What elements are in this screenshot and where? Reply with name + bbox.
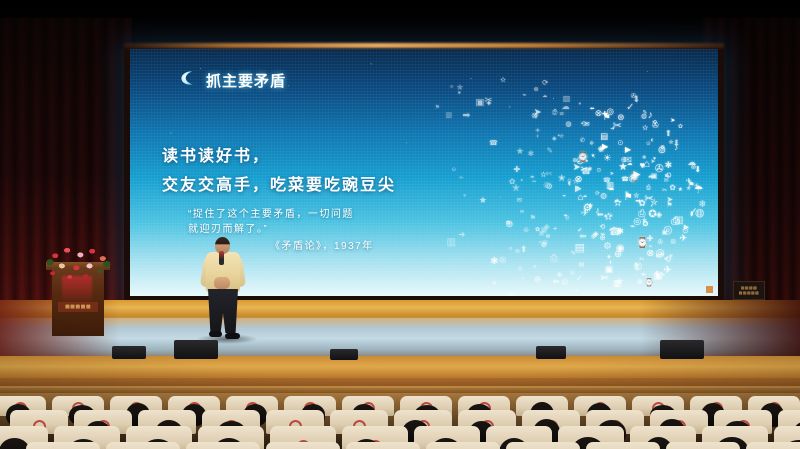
cloud-icon: ✂	[484, 96, 492, 105]
audience-seat	[746, 442, 800, 449]
cloud-icon: ⟳	[542, 79, 548, 86]
cloud-icon: ⊚	[534, 87, 539, 93]
cloud-icon: ✄	[601, 274, 609, 283]
crescent-moon-icon	[178, 69, 198, 92]
cloud-icon: ♪	[595, 206, 599, 215]
cloud-icon: ◈	[656, 211, 662, 219]
audience-seat	[586, 442, 660, 449]
cloud-icon: ⌁	[522, 92, 526, 99]
cloud-icon: ▥	[445, 111, 452, 118]
cloud-icon: ✦	[534, 127, 541, 135]
audience-seat	[666, 442, 740, 449]
cloud-icon: ⟲	[664, 172, 671, 180]
cloud-icon: ▣	[538, 231, 544, 237]
cloud-icon: ▣	[662, 231, 667, 237]
cloud-icon: ▶	[684, 225, 689, 232]
cloud-icon: ✮	[633, 192, 639, 200]
cloud-icon: ⟲	[508, 247, 512, 252]
cloud-icon: ⊕	[515, 249, 521, 256]
cloud-icon: ✭	[686, 186, 691, 192]
cloud-icon: ⎙	[671, 217, 679, 227]
cloud-icon: ✉	[516, 198, 522, 205]
cloud-icon: ◈	[598, 145, 604, 153]
stage-monitor-2	[174, 340, 218, 359]
cloud-icon: ▤	[546, 234, 550, 238]
cloud-icon: ✫	[540, 171, 546, 179]
cloud-icon: ✫	[642, 124, 648, 131]
cloud-icon: ✆	[543, 182, 550, 190]
wall-lamp	[706, 286, 713, 293]
cloud-icon: ✇	[524, 228, 529, 234]
slide-title-text: 抓主要矛盾	[206, 70, 286, 91]
cloud-icon: ☺	[595, 168, 602, 175]
cloud-icon: ➤	[610, 172, 614, 177]
wall-placard: ▩▩▩▩ ▩▩▩▩▩	[733, 281, 765, 300]
cloud-icon: ✱	[665, 161, 673, 170]
cloud-icon: ✓	[626, 103, 634, 113]
cloud-icon: ⊕	[534, 275, 541, 284]
cloud-icon: ✉	[579, 263, 585, 270]
audience-seat	[266, 442, 340, 449]
audience-seat	[506, 442, 580, 449]
cloud-icon: ✎	[547, 147, 553, 155]
cloud-icon: ✎	[643, 111, 648, 117]
cloud-icon: ❄	[458, 91, 461, 95]
slide-line-1: 读书读好书，	[162, 142, 270, 166]
cloud-icon: ⚙	[561, 278, 569, 287]
cloud-icon: ⬅	[553, 278, 560, 286]
cloud-icon: ✇	[652, 122, 659, 130]
cloud-icon: ⎙	[646, 186, 650, 192]
cloud-icon: ⌂	[644, 159, 650, 170]
cloud-icon: ☀	[668, 255, 673, 261]
cloud-icon: ◍	[695, 208, 704, 219]
cloud-icon: ⬇	[694, 166, 701, 174]
cloud-icon: ✎	[521, 277, 525, 281]
cloud-icon: ♥	[579, 102, 582, 106]
cloud-icon: ⎙	[638, 209, 645, 218]
cloud-icon: ★	[479, 196, 487, 205]
cloud-icon: ✇	[658, 240, 664, 247]
cloud-icon: ⌂	[609, 212, 613, 219]
cloud-icon: ◒	[562, 193, 566, 200]
cloud-icon: ⌚	[577, 153, 589, 163]
cloud-icon: ☎	[581, 168, 591, 176]
cloud-icon: ⬅	[579, 232, 586, 241]
cloud-icon: ▥	[446, 238, 455, 248]
cloud-icon: ✿	[669, 184, 676, 192]
audience-seat	[26, 442, 100, 449]
cloud-icon: ☁	[542, 95, 547, 100]
cloud-icon: ➡	[635, 199, 641, 206]
cloud-icon: ✱	[491, 257, 499, 267]
cloud-icon: ✫	[500, 78, 506, 85]
cloud-icon: ✂	[639, 257, 644, 263]
cloud-icon: ⚙	[603, 242, 611, 251]
cloud-icon: ◍	[565, 216, 570, 221]
cloud-icon: ◍	[600, 192, 607, 200]
cloud-icon: ❄	[591, 234, 597, 241]
cloud-icon: ⎙	[552, 110, 557, 117]
cloud-icon: ✈	[680, 234, 688, 243]
cloud-icon: ⌁	[649, 244, 653, 250]
cloud-icon: ☀	[693, 182, 700, 189]
cloud-icon: ★	[516, 147, 524, 156]
cloud-icon: ☂	[553, 228, 558, 233]
cloud-icon: ▣	[475, 98, 484, 107]
cloud-icon: ⟳	[533, 265, 536, 269]
cloud-icon: ✂	[508, 222, 513, 227]
cloud-icon: ✮	[572, 177, 580, 186]
cloud-icon: ⌚	[644, 279, 654, 287]
cloud-icon: ✆	[580, 139, 585, 145]
cloud-icon: ☺	[451, 168, 457, 174]
cloud-icon: ✂	[644, 194, 653, 205]
cloud-icon: ⌁	[459, 173, 464, 181]
cloud-icon: ⊗	[595, 109, 603, 118]
audience-seat	[346, 442, 420, 449]
cloud-icon: ✉	[520, 210, 524, 215]
cloud-icon: ✱	[617, 227, 624, 236]
audience-area	[0, 386, 800, 449]
cloud-icon: ⊚	[606, 108, 614, 118]
cloud-icon: ☎	[559, 112, 564, 116]
cloud-icon: ◒	[520, 178, 523, 182]
cloud-icon: ◍	[565, 121, 571, 128]
cloud-icon: ⚑	[666, 203, 672, 210]
cloud-icon: ♪	[508, 105, 510, 110]
cloud-icon: ✭	[558, 173, 566, 182]
cloud-icon: ▥	[613, 280, 621, 288]
cloud-icon: ☀	[603, 154, 611, 163]
presenter-right-shoe	[225, 333, 240, 339]
cloud-icon: ⚑	[530, 215, 536, 222]
stage-monitor-3	[330, 349, 358, 360]
cloud-icon: ◒	[539, 240, 542, 245]
lectern-plaque: ▩▩▩▩▩	[58, 302, 98, 312]
cloud-icon: ➤	[651, 160, 656, 166]
cloud-icon: ★	[591, 154, 596, 159]
cloud-icon: ❄	[589, 142, 594, 148]
cloud-icon: ✮	[517, 265, 523, 273]
cloud-icon: ⊙	[617, 139, 623, 146]
cloud-icon: ◓	[583, 193, 588, 201]
cloud-icon: ◐	[650, 137, 654, 144]
cloud-icon: ⊗	[637, 278, 643, 285]
cloud-icon: ◐	[609, 260, 613, 266]
cloud-icon: ⟲	[580, 121, 586, 128]
slide-quote: “捉住了这个主要矛盾，一切问题 就迎刃而解了。”	[188, 207, 354, 237]
cloud-icon: ✭	[512, 184, 520, 194]
cloud-icon: ▤	[671, 240, 676, 245]
cloud-icon: ⬇	[655, 272, 660, 278]
presenter	[200, 237, 246, 340]
presenter-left-shoe	[209, 331, 222, 337]
row-rail	[0, 388, 800, 393]
wall-placard-line-2: ▩▩▩▩▩	[739, 291, 759, 295]
stage-monitor-4	[536, 346, 566, 359]
slide-quote-attribution: 《矛盾论》，1937年	[270, 237, 374, 252]
cloud-icon: ➜	[458, 231, 465, 239]
cloud-icon: ★	[678, 188, 683, 194]
cloud-icon: ☎	[489, 140, 498, 147]
audience-seat	[426, 442, 500, 449]
cloud-icon: ▤	[600, 132, 608, 140]
presenter-trousers	[208, 289, 238, 333]
cloud-icon: ♥	[463, 194, 466, 199]
cloud-icon: ➜	[575, 290, 579, 295]
cloud-icon: ◓	[648, 172, 654, 181]
slide-quote-line-1: “捉住了这个主要矛盾，一切问题	[188, 207, 354, 222]
cloud-icon: ✪	[567, 179, 571, 183]
slide-header: 抓主要矛盾	[178, 69, 286, 92]
cloud-icon: ◓	[530, 173, 535, 181]
cloud-icon: ⚑	[435, 106, 440, 112]
cloud-icon: ♪	[674, 144, 678, 151]
cloud-icon: ☎	[603, 178, 611, 184]
presenter-hands	[214, 277, 230, 289]
cloud-icon: ✬	[660, 253, 665, 259]
cloud-icon: ✦	[557, 134, 561, 139]
cloud-icon: ⊗	[499, 256, 507, 266]
cloud-icon: ⊚	[450, 85, 454, 90]
cloud-icon: ✇	[631, 94, 637, 101]
cloud-icon: ♥	[534, 112, 539, 121]
audience-seat	[186, 442, 260, 449]
cloud-icon: ✂	[662, 188, 667, 194]
cloud-icon: ▶	[625, 146, 631, 154]
cloud-icon: ▶	[633, 169, 640, 178]
cloud-icon: ◎	[507, 291, 516, 296]
slide-quote-line-2: 就迎刃而解了。”	[188, 222, 354, 237]
cloud-icon: ◉	[557, 273, 562, 279]
audience-seat	[106, 442, 180, 449]
cloud-icon: ✱	[528, 150, 534, 158]
cloud-icon: ✇	[655, 164, 664, 175]
cloud-icon: ⊗	[569, 269, 575, 276]
microphone-icon	[219, 251, 224, 265]
auditorium-photo: 抓主要矛盾 读书读好书， 交友交高手，吃菜要吃豌豆尖 “捉住了这个主要矛盾，一切…	[0, 0, 800, 449]
cloud-icon: ✿	[678, 125, 683, 131]
cloud-icon: ➤	[670, 118, 675, 124]
stage-monitor-5	[660, 340, 704, 359]
cloud-icon: ⟳	[595, 192, 600, 198]
cloud-icon: ✚	[513, 166, 520, 174]
screen-top-light	[124, 43, 724, 48]
cloud-icon: ✮	[668, 140, 673, 146]
cloud-icon: ⊙	[646, 142, 651, 147]
cloud-icon: ▤	[575, 243, 585, 254]
cloud-icon: ✓	[576, 275, 583, 283]
cloud-icon: ✈	[604, 215, 608, 220]
cloud-icon: ◎	[633, 217, 641, 226]
cloud-icon: ⬆	[665, 129, 672, 137]
cloud-icon: ⬆	[520, 245, 527, 254]
stage-monitor-1	[112, 346, 146, 359]
cloud-icon: ✯	[642, 218, 647, 224]
cloud-icon: ✆	[634, 263, 642, 273]
cloud-icon: ⬅	[590, 107, 595, 113]
cloud-icon: ✚	[647, 235, 654, 243]
cloud-icon: ✈	[663, 266, 671, 276]
cloud-icon: ⚙	[660, 146, 665, 151]
cloud-icon: ☁	[627, 162, 633, 168]
cloud-icon: ☎	[621, 177, 629, 183]
cloud-icon: ➡	[462, 111, 470, 120]
flower-arrangement	[46, 242, 112, 288]
cloud-icon: ⌁	[625, 190, 629, 196]
cloud-icon: ✈	[581, 209, 589, 219]
slide-line-2: 交友交高手，吃菜要吃豌豆尖	[162, 171, 396, 195]
cloud-icon: ☁	[561, 102, 569, 110]
cloud-icon: ◉	[616, 244, 625, 254]
cloud-icon: ➜	[610, 127, 614, 132]
cloud-icon: ⎙	[550, 254, 558, 264]
cloud-icon: ◍	[492, 281, 496, 286]
icon-cloud-head-graphic: ▶⚑☁⌚▤⊚☺☀◍⟲✫⌂▣⬇⊙✮♥✄➤✈⬆✭✓▥⊛⚑♪◐➥✬⌚✚⎙✫★⌂☎☂⬇◎…	[430, 77, 718, 296]
cloud-icon: ⌁	[615, 199, 618, 204]
